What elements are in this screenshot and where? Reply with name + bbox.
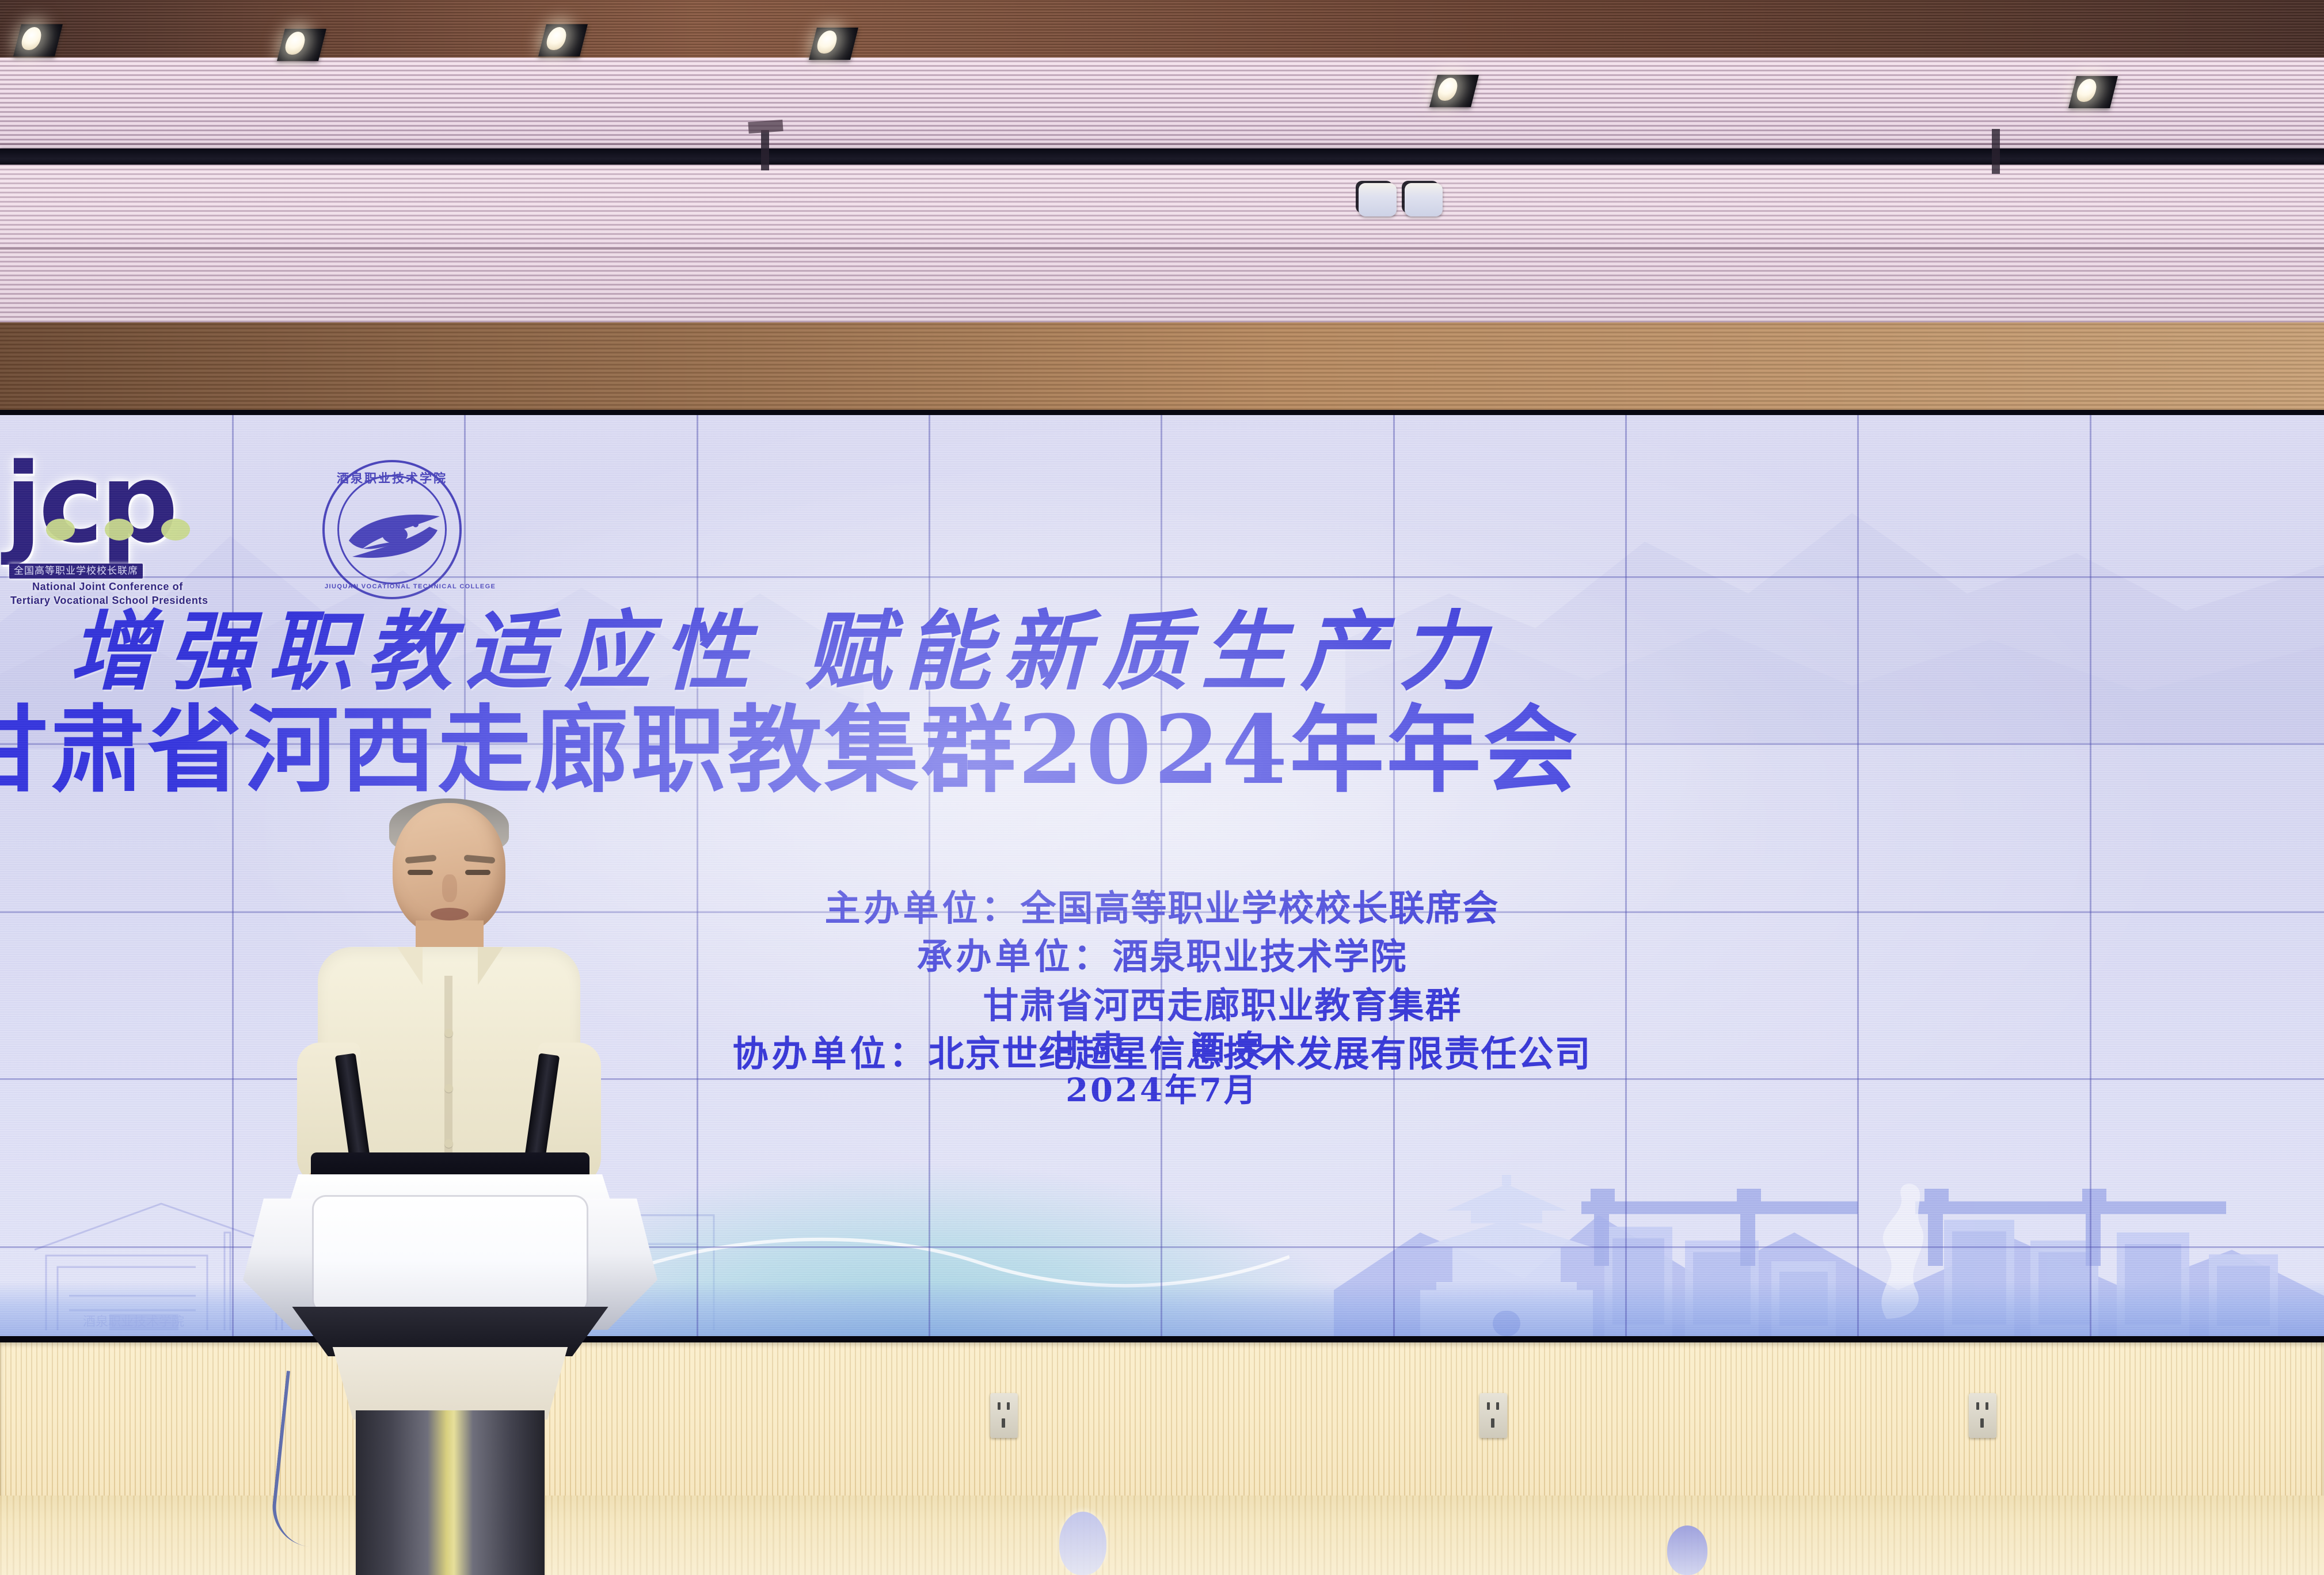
ceiling-vent-plate bbox=[1359, 183, 1397, 216]
organizer-label: 主办单位： bbox=[824, 887, 1020, 929]
organizer-value: 酒泉职业技术学院 bbox=[1113, 935, 1408, 977]
led-panel-seam bbox=[1161, 415, 1162, 1336]
downlight-icon bbox=[277, 29, 326, 61]
microphone-icon bbox=[524, 1053, 560, 1164]
led-panel-seam bbox=[697, 415, 698, 1336]
jcp-accent-dot bbox=[161, 519, 190, 541]
ceiling-seam-2 bbox=[0, 248, 2324, 250]
lectern bbox=[237, 1053, 663, 1575]
led-panel-seam bbox=[929, 415, 930, 1336]
light-bulb-glow bbox=[283, 32, 307, 55]
water-bottle bbox=[1667, 1525, 1707, 1575]
speaker-eye bbox=[465, 870, 490, 875]
light-bulb-glow bbox=[20, 27, 44, 50]
seal-english-text: JIUQUAN VOCATIONAL TECHNICAL COLLEGE bbox=[325, 583, 459, 590]
led-panel-seam bbox=[1857, 415, 1859, 1336]
organizer-label: 承办单位： bbox=[916, 935, 1112, 977]
ceiling-striated-panel-upper bbox=[0, 58, 2324, 154]
speaker-collar bbox=[397, 947, 423, 985]
speaker-collar bbox=[478, 947, 503, 985]
wall-outlet bbox=[1479, 1393, 1507, 1438]
downlight-icon bbox=[2068, 76, 2118, 108]
organizer-value: 甘肃省河西走廊职业教育集群 bbox=[983, 984, 1462, 1026]
speaker-eye bbox=[408, 870, 433, 875]
lectern-cable bbox=[269, 1371, 350, 1549]
downlight-icon bbox=[538, 24, 588, 56]
light-bulb-glow bbox=[2075, 79, 2099, 102]
jcp-wordmark: jcp bbox=[5, 456, 275, 550]
downlight-icon bbox=[809, 28, 858, 60]
ceiling-walnut-band bbox=[0, 0, 2324, 62]
lectern-touch-panel[interactable] bbox=[312, 1195, 588, 1314]
ceiling-wood-lip bbox=[0, 322, 2324, 410]
seal-swoosh-emblem bbox=[345, 507, 443, 560]
event-title: 甘肃省河西走廊职教集群2024年年会 bbox=[0, 703, 2324, 797]
lectern-mid-body bbox=[322, 1347, 578, 1420]
jcp-chinese-bar: 全国高等职业学校校长联席会 bbox=[9, 564, 143, 579]
shirt-button bbox=[444, 1029, 453, 1037]
seal-chinese-text: 酒泉职业技术学院 bbox=[325, 469, 459, 486]
organizer-value: 全国高等职业学校校长联席会 bbox=[1021, 887, 1500, 929]
lectern-column-base bbox=[356, 1410, 545, 1575]
headline-slogan: 增强职教适应性 赋能新质生产力 bbox=[69, 608, 2314, 695]
ceiling-conduit bbox=[761, 130, 769, 170]
ceiling-vent-plate bbox=[1405, 183, 1443, 216]
jcp-accent-dot bbox=[46, 519, 75, 541]
downlight-icon bbox=[1429, 75, 1479, 107]
led-panel-seam bbox=[2090, 415, 2091, 1336]
speaker-mouth bbox=[431, 908, 469, 920]
speaker-nose bbox=[442, 874, 457, 902]
water-bottle bbox=[1059, 1512, 1106, 1575]
light-bulb-glow bbox=[545, 27, 569, 50]
jcp-logo: jcp 全国高等职业学校校长联席会 National Joint Confere… bbox=[5, 456, 275, 600]
ceiling-conduit bbox=[1992, 129, 2000, 174]
ceiling-black-rail bbox=[0, 149, 2324, 166]
downlight-icon bbox=[13, 24, 63, 56]
wall-outlet bbox=[1969, 1393, 1996, 1438]
led-panel-seam bbox=[1393, 415, 1395, 1336]
conference-stage-photo: 酒泉职业技术学院 bbox=[0, 0, 2324, 1575]
led-panel-seam bbox=[1625, 415, 1627, 1336]
jcp-accent-dot bbox=[105, 519, 134, 541]
light-bulb-glow bbox=[815, 31, 839, 54]
college-seal-logo: 酒泉职业技术学院 JIUQUAN VOCATIONAL TECHNICAL CO… bbox=[322, 460, 462, 599]
ceiling-bracket bbox=[748, 120, 783, 134]
ceiling-seam-1 bbox=[0, 143, 2324, 145]
jcp-english-line-1: National Joint Conference of bbox=[32, 581, 183, 593]
microphone-icon bbox=[335, 1053, 371, 1164]
wall-outlet bbox=[990, 1393, 1018, 1438]
light-bulb-glow bbox=[1436, 78, 1460, 101]
